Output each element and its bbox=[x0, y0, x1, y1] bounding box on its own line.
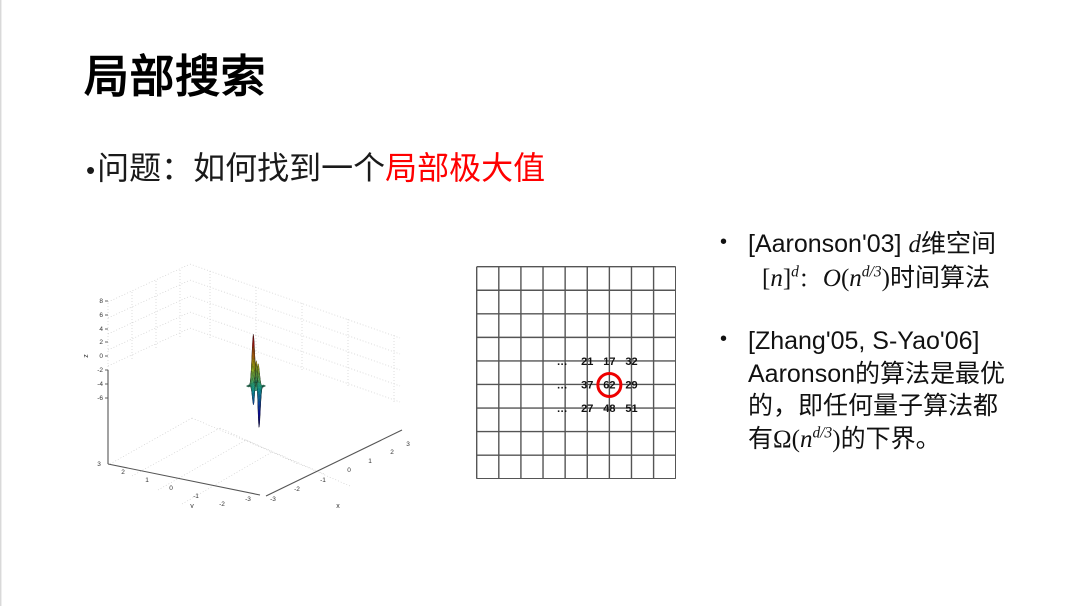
svg-text:-1: -1 bbox=[320, 477, 326, 484]
list-item-aaronson: • [Aaronson'03] d维空间 [n]d：O(nd/3)时间算法 bbox=[714, 228, 1070, 295]
svg-text:1: 1 bbox=[145, 477, 149, 484]
svg-text:4: 4 bbox=[99, 326, 103, 333]
surface-z-ticks: 8 6 4 2 0 -2 -4 -6 bbox=[97, 298, 103, 402]
zhang-line-3: 的，即任何量子算法都 bbox=[748, 390, 1070, 423]
aaronson-line2-tail: 时间算法 bbox=[890, 264, 990, 292]
omega-symbol: Ω bbox=[773, 426, 792, 453]
svg-text:-2: -2 bbox=[97, 367, 103, 374]
svg-text:-6: -6 bbox=[97, 395, 103, 402]
bound-base: n bbox=[800, 426, 813, 453]
bullet-dot-icon: • bbox=[720, 325, 727, 354]
svg-text:3: 3 bbox=[406, 441, 410, 448]
aaronson-line-2: [n]d：O(nd/3)时间算法 bbox=[748, 262, 1070, 296]
grid-ellipsis: … bbox=[557, 379, 568, 391]
svg-text:0: 0 bbox=[99, 353, 103, 360]
complexity-exponent: d/3 bbox=[862, 263, 882, 280]
paren-open: ( bbox=[792, 426, 800, 453]
surface-x-ticks: -3 -2 -1 0 1 2 3 bbox=[270, 441, 410, 503]
svg-text:2: 2 bbox=[99, 339, 103, 346]
svg-text:0: 0 bbox=[169, 485, 173, 492]
svg-text:-2: -2 bbox=[294, 486, 300, 493]
grid-number: 21 bbox=[581, 356, 593, 368]
question-bullet-line: • 问题：如何找到一个 局部极大值 bbox=[86, 148, 545, 188]
bullet-dot-icon: • bbox=[86, 157, 95, 183]
svg-text:1: 1 bbox=[368, 458, 372, 465]
page-title: 局部搜索 bbox=[84, 52, 266, 102]
list-item-zhang-yao: • [Zhang'05, S-Yao'06] Aaronson的算法是最优 的，… bbox=[714, 325, 1070, 456]
aaronson-line-1: [Aaronson'03] d维空间 bbox=[748, 228, 1070, 262]
paren-close: ) bbox=[882, 265, 890, 292]
grid-lines bbox=[477, 267, 676, 479]
bullet-dot-icon: • bbox=[720, 228, 727, 257]
zhang-line-2: Aaronson的算法是最优 bbox=[748, 358, 1070, 391]
svg-text:-3: -3 bbox=[270, 496, 276, 503]
aaronson-line1-tail: 维空间 bbox=[921, 230, 996, 258]
aaronson-citation: [Aaronson'03] bbox=[748, 230, 908, 258]
grid-number: 37 bbox=[581, 379, 593, 391]
search-grid-figure: …211732…376229…274851 bbox=[476, 266, 676, 479]
bound-exponent: d/3 bbox=[812, 424, 832, 441]
slide-canvas: 局部搜索 • 问题：如何找到一个 局部极大值 bbox=[0, 0, 1080, 606]
svg-text:-4: -4 bbox=[97, 381, 103, 388]
svg-text:8: 8 bbox=[99, 298, 103, 305]
zhang-line-1: [Zhang'05, S-Yao'06] bbox=[748, 325, 1070, 358]
grid-number: 62 bbox=[603, 379, 615, 391]
grid-number: 48 bbox=[603, 403, 615, 415]
big-o-symbol: O bbox=[819, 265, 841, 292]
paren-close: ) bbox=[832, 426, 840, 453]
bracket-close: ] bbox=[783, 265, 791, 292]
grid-number: 51 bbox=[625, 403, 637, 415]
grid-number: 17 bbox=[603, 356, 615, 368]
surface-y-ticks: 3 2 1 0 -1 -2 -3 bbox=[97, 461, 251, 508]
surface-mesh bbox=[246, 334, 266, 427]
dim-variable: d bbox=[908, 231, 921, 258]
svg-text:3: 3 bbox=[97, 461, 101, 468]
grid-number: 27 bbox=[581, 403, 593, 415]
search-grid-svg: …211732…376229…274851 bbox=[476, 266, 676, 479]
results-bullet-list: • [Aaronson'03] d维空间 [n]d：O(nd/3)时间算法 • … bbox=[714, 228, 1070, 486]
svg-text:0: 0 bbox=[347, 467, 351, 474]
line2-colon: ： bbox=[799, 269, 819, 291]
surface-y-axis-label: y bbox=[190, 503, 194, 508]
question-text: 问题：如何找到一个 bbox=[97, 148, 385, 188]
surface-x-axis-label: x bbox=[336, 503, 340, 508]
bracket-superscript: d bbox=[791, 263, 799, 280]
surface-plot-svg: 8 6 4 2 0 -2 -4 -6 z 3 2 1 0 bbox=[70, 258, 412, 508]
grid-ellipsis: … bbox=[557, 403, 568, 415]
question-highlight-text: 局部极大值 bbox=[385, 148, 545, 188]
complexity-base: n bbox=[849, 265, 862, 292]
slide-left-edge bbox=[0, 0, 3, 606]
peaks-surface-figure: 8 6 4 2 0 -2 -4 -6 z 3 2 1 0 bbox=[70, 258, 412, 508]
surface-z-axis-label: z bbox=[83, 354, 90, 358]
zhang-line4-tail: 的下界。 bbox=[841, 425, 941, 453]
svg-text:-3: -3 bbox=[245, 496, 251, 503]
svg-text:2: 2 bbox=[390, 449, 394, 456]
grid-number: 32 bbox=[625, 356, 637, 368]
svg-text:-1: -1 bbox=[193, 493, 199, 500]
grid-ellipsis: … bbox=[557, 356, 568, 368]
n-variable: n bbox=[770, 265, 783, 292]
zhang-line-4: 有Ω(nd/3)的下界。 bbox=[748, 423, 1070, 457]
svg-text:-2: -2 bbox=[219, 501, 225, 508]
svg-text:2: 2 bbox=[121, 469, 125, 476]
svg-text:6: 6 bbox=[99, 312, 103, 319]
grid-number: 29 bbox=[625, 379, 637, 391]
zhang-line4-prefix: 有 bbox=[748, 425, 773, 453]
